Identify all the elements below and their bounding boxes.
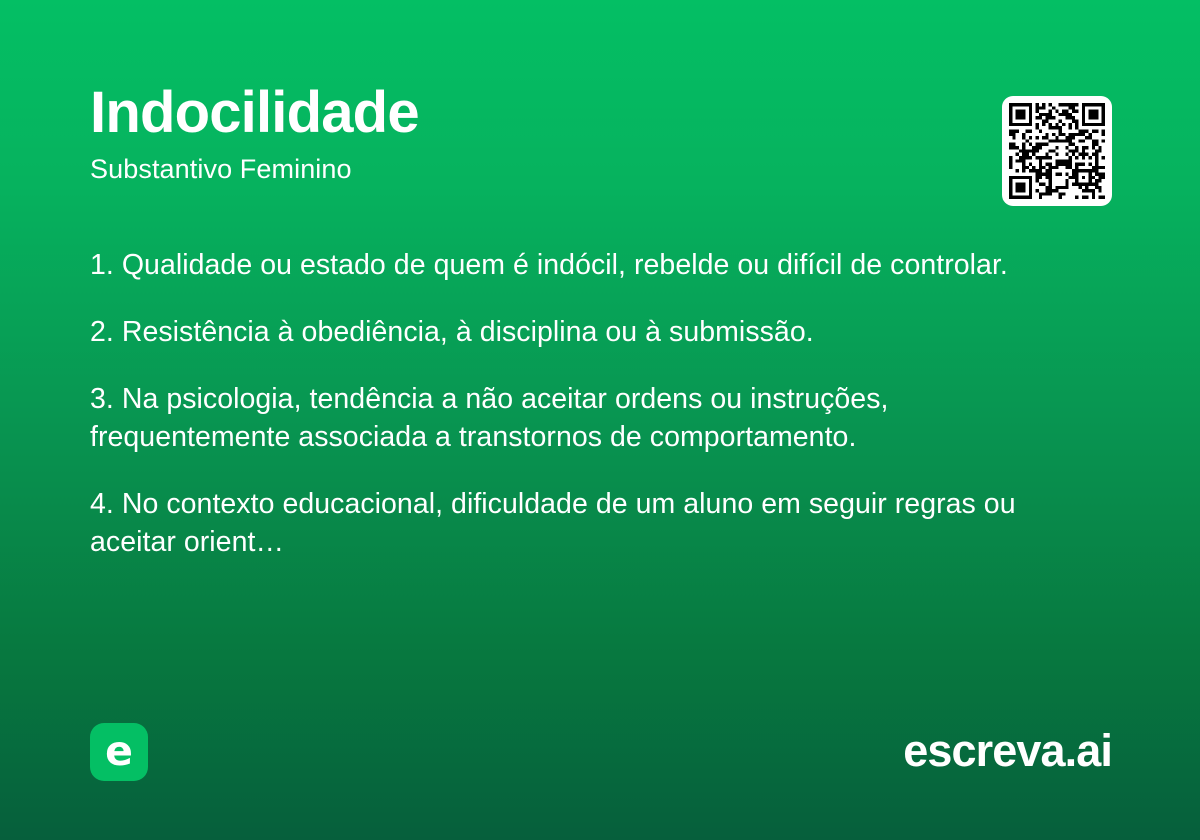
definition-item: 1. Qualidade ou estado de quem é indócil… [90, 246, 1075, 284]
brand-logo: e [90, 723, 148, 781]
brand-logo-letter: e [90, 723, 148, 781]
brand-wordmark: escreva.ai [903, 722, 1112, 780]
definition-item: 4. No contexto educacional, dificuldade … [90, 485, 1075, 561]
page-title: Indocilidade [90, 84, 1070, 142]
card-header: Indocilidade Substantivo Feminino [90, 84, 1070, 183]
qr-code-panel[interactable] [1002, 96, 1112, 206]
word-class-label: Substantivo Feminino [90, 156, 1070, 183]
qr-code-icon[interactable] [1009, 103, 1105, 199]
definition-list: 1. Qualidade ou estado de quem é indócil… [90, 246, 1075, 561]
definition-item: 2. Resistência à obediência, à disciplin… [90, 313, 1075, 351]
definition-item: 3. Na psicologia, tendência a não aceita… [90, 380, 1075, 456]
dictionary-card: Indocilidade Substantivo Feminino 1. Qua… [0, 0, 1200, 840]
